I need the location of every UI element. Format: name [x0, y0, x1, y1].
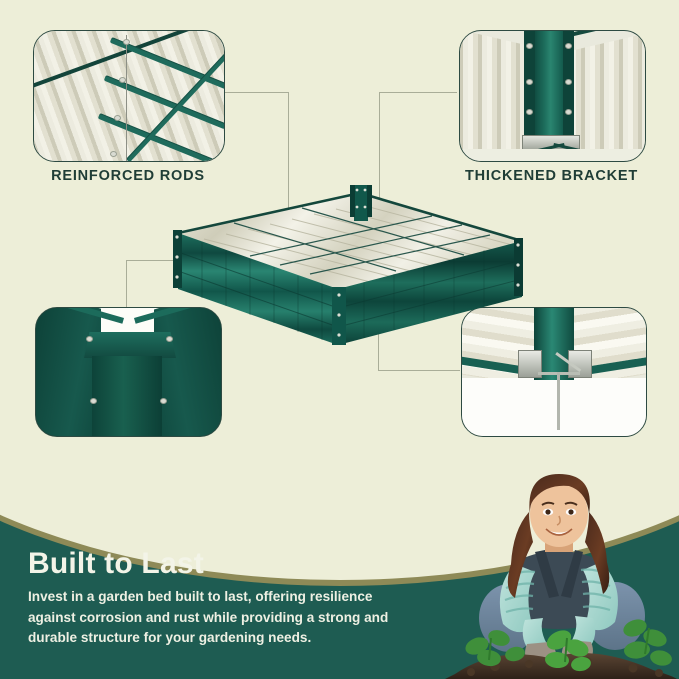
screw-icon [565, 79, 572, 85]
banner-body-text: Invest in a garden bed built to last, of… [28, 587, 418, 649]
screw-icon [90, 398, 97, 404]
screw-icon [160, 398, 167, 404]
screw-icon [123, 39, 130, 45]
gardener-photo [437, 468, 679, 679]
tension-wire [126, 35, 127, 161]
connector-corner-protector-v [126, 260, 127, 308]
callout-frame [459, 30, 646, 162]
thickened-bracket-post [534, 31, 564, 147]
screw-icon [565, 109, 572, 115]
interior-floor [462, 378, 646, 436]
connector-thickened-bracket-h [379, 92, 457, 93]
connector-reinforced-rods-h [220, 92, 289, 93]
screw-icon [526, 109, 533, 115]
garden-bed-illustration [150, 185, 540, 385]
screw-icon [110, 151, 117, 157]
screw-icon [526, 79, 533, 85]
infographic-canvas: REINFORCED RODS [0, 0, 679, 679]
floor-fill [460, 149, 645, 162]
screw-icon [119, 77, 126, 83]
callout-thickened-bracket[interactable]: THICKENED BRACKET [459, 30, 644, 160]
banner-headline: Built to Last [28, 547, 204, 581]
screw-icon [114, 115, 121, 121]
callout-reinforced-rods[interactable]: REINFORCED RODS [33, 30, 223, 160]
screw-icon [565, 43, 572, 49]
fixed-pin-stake [557, 372, 560, 430]
callout-label-thickened-bracket: THICKENED BRACKET [459, 168, 644, 184]
screw-icon [526, 43, 533, 49]
gardener-illustration [437, 468, 679, 679]
callout-label-reinforced-rods: REINFORCED RODS [33, 168, 223, 184]
product-raised-garden-bed [150, 185, 540, 385]
screw-icon [86, 336, 93, 342]
callout-frame [33, 30, 225, 162]
